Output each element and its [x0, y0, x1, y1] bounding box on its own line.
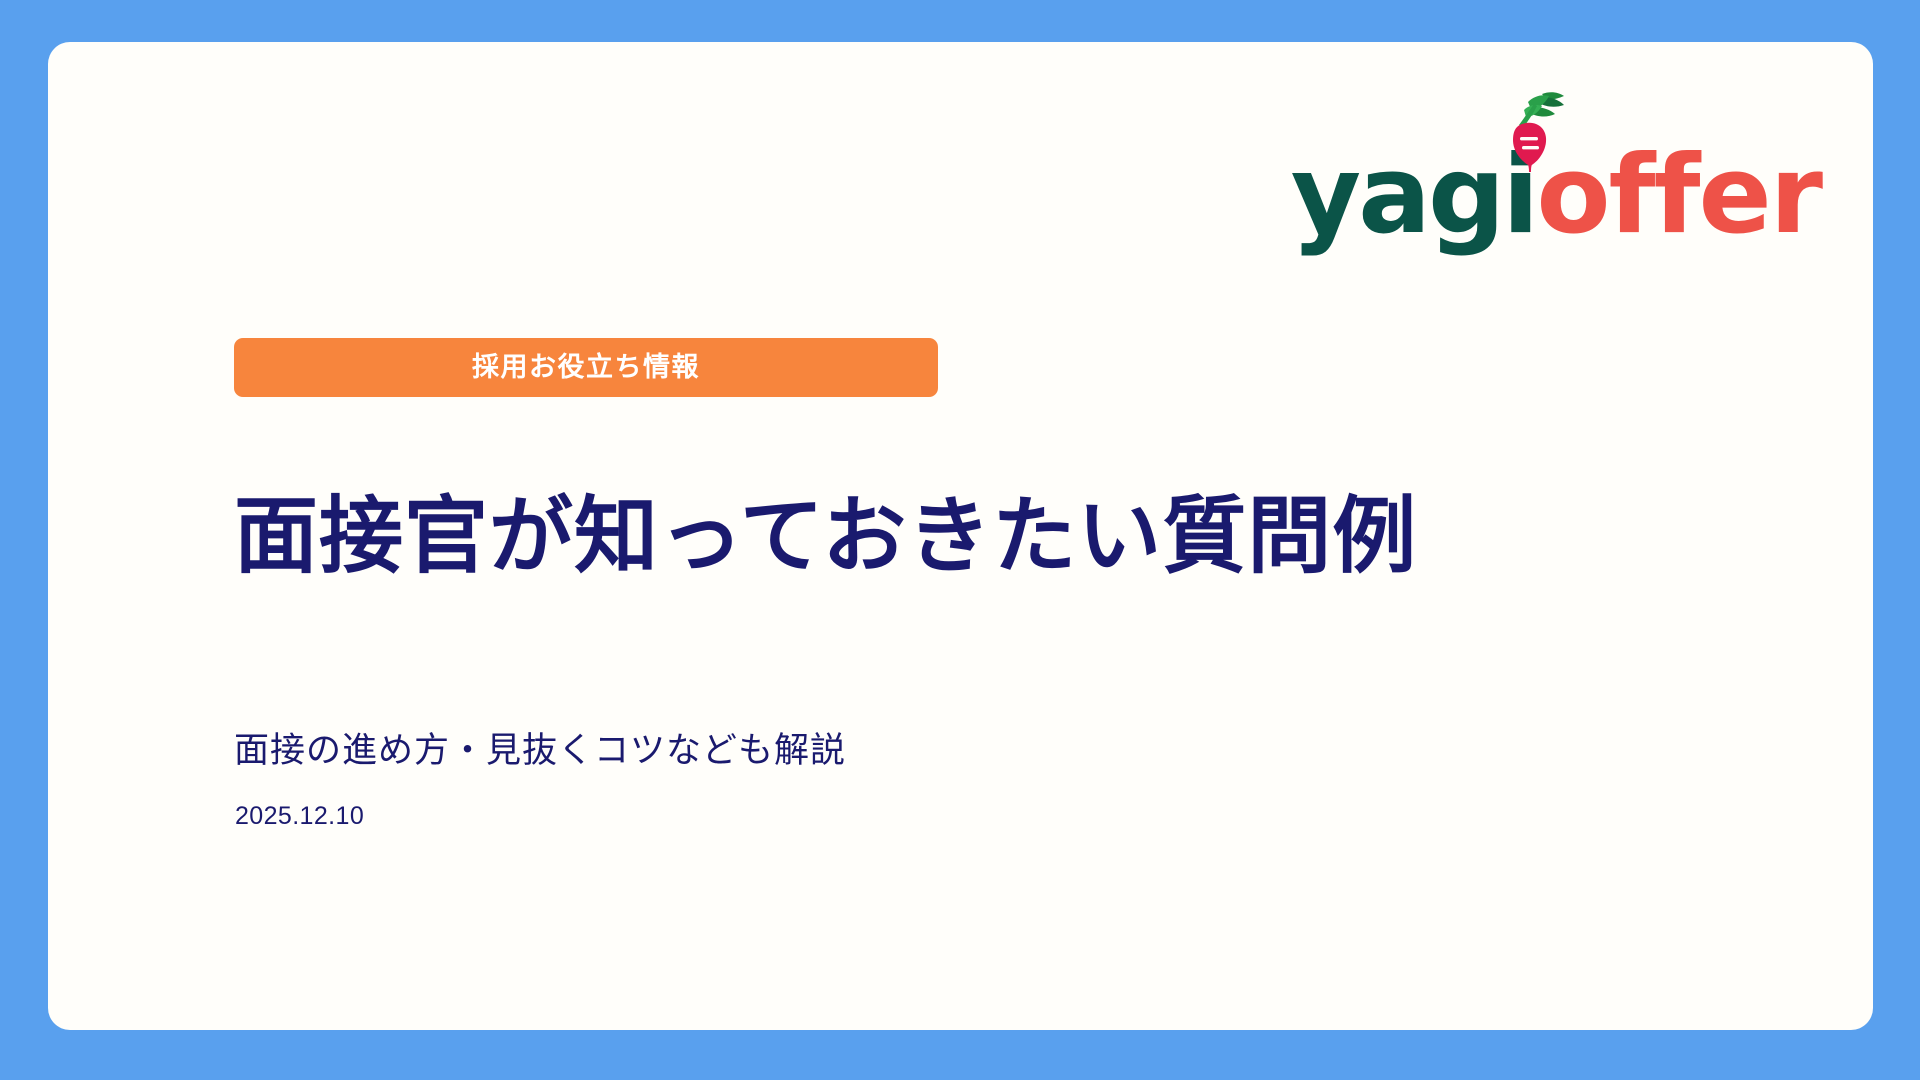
- content-card: yagioffer: [48, 42, 1873, 1030]
- category-badge-label: 採用お役立ち情報: [472, 354, 700, 381]
- page-title: 面接官が知っておきたい質問例: [234, 488, 1734, 585]
- publish-date: 2025.12.10: [235, 802, 364, 831]
- category-badge[interactable]: 採用お役立ち情報: [234, 338, 938, 397]
- slide-canvas: yagioffer: [0, 0, 1920, 1080]
- logo-wordmark: yagioffer: [1291, 142, 1821, 250]
- logo-text-yagi: yagi: [1291, 133, 1537, 258]
- logo-text-offer: offer: [1536, 133, 1821, 258]
- page-subtitle: 面接の進め方・見抜くコツなども解説: [234, 729, 1634, 775]
- yagioffer-logo[interactable]: yagioffer: [1291, 100, 1821, 250]
